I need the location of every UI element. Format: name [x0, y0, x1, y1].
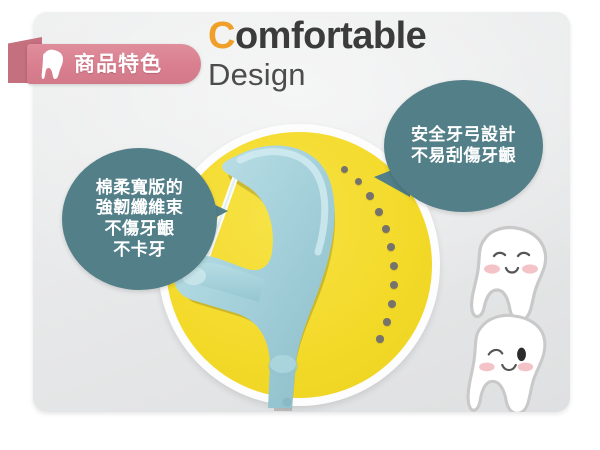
title-block: Comfortable Design: [208, 17, 426, 92]
accent-dot: [383, 318, 391, 326]
accent-dot: [375, 208, 383, 216]
callout-right: 安全牙弓設計 不易刮傷牙齦: [384, 80, 543, 212]
callout-right-line-2: 不易刮傷牙齦: [411, 146, 516, 167]
callout-left-line-1: 棉柔寬版的: [96, 178, 184, 199]
title-primary-rest: omfortable: [235, 15, 426, 57]
callout-left-line-4: 不卡牙: [113, 240, 166, 261]
accent-dot: [376, 335, 384, 343]
accent-dot: [382, 225, 390, 233]
title-accent-letter: C: [208, 15, 235, 57]
title-primary: Comfortable: [208, 17, 426, 56]
callout-left-line-3: 不傷牙齦: [105, 219, 175, 240]
callout-left-line-2: 強韌纖維束: [96, 198, 184, 219]
callout-right-line-1: 安全牙弓設計: [411, 125, 516, 146]
tooth-mascot-bottom: [464, 312, 554, 412]
poster-canvas: 安全牙弓設計 不易刮傷牙齦 棉柔寬版的 強韌纖維束 不傷牙齦 不卡牙: [0, 0, 600, 450]
accent-dot: [355, 178, 362, 185]
feature-badge: 商品特色: [27, 44, 201, 84]
tooth-mascot-top: [470, 224, 554, 324]
accent-dot: [387, 243, 395, 251]
accent-dot: [390, 281, 398, 289]
tooth-icon: [41, 49, 65, 79]
accent-dot: [388, 300, 396, 308]
accent-dot: [390, 262, 398, 270]
feature-badge-label: 商品特色: [74, 54, 162, 75]
callout-left: 棉柔寬版的 強韌纖維束 不傷牙齦 不卡牙: [62, 148, 217, 290]
accent-dot: [366, 192, 374, 200]
accent-dot: [341, 166, 348, 173]
title-secondary: Design: [208, 58, 426, 92]
